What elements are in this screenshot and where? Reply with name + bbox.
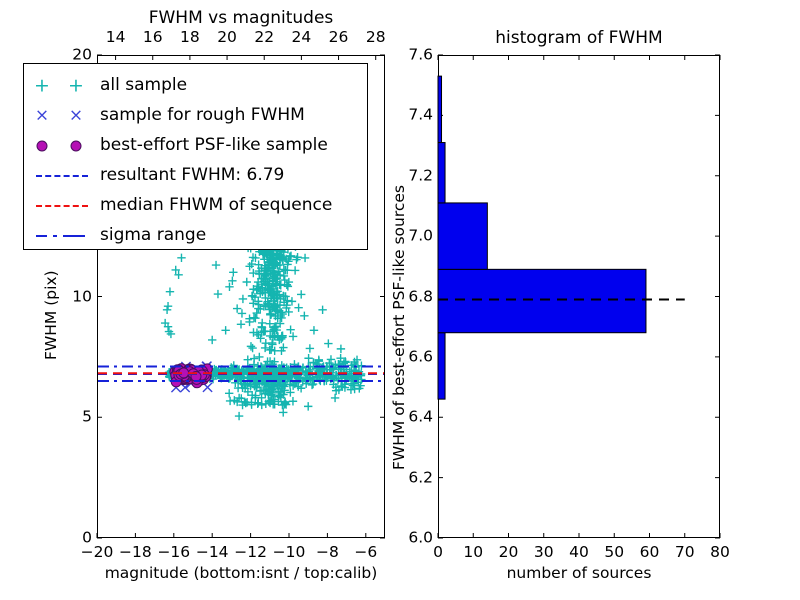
- legend-marker-x-icon: ××: [24, 103, 100, 129]
- legend-entry[interactable]: resultant FWHM: 6.79: [24, 160, 367, 191]
- legend-marker-circle-icon: [24, 133, 100, 159]
- tick-label: 50: [604, 545, 624, 561]
- histogram-bar: [438, 333, 445, 399]
- tick-label: 7.6: [408, 47, 433, 63]
- legend: ++all sample××sample for rough FWHMbest-…: [23, 63, 368, 250]
- legend-glyph: [71, 140, 82, 151]
- tick-label: 6.4: [408, 410, 433, 426]
- legend-glyph: ×: [35, 107, 49, 124]
- histogram-ylabel: FWHM of best-effort PSF-like sources: [392, 185, 408, 470]
- legend-marker-dashed-line-icon: [24, 163, 100, 189]
- legend-entry[interactable]: sigma range: [24, 220, 367, 251]
- legend-label: median FHWM of sequence: [100, 197, 332, 214]
- legend-marker-plus-icon: ++: [24, 73, 100, 99]
- legend-marker-dashed-line-icon: [24, 193, 100, 219]
- legend-label: resultant FWHM: 6.79: [100, 167, 284, 184]
- legend-glyph: [36, 205, 88, 207]
- legend-marker-dashdot-line-icon: [24, 223, 100, 249]
- legend-label: sigma range: [100, 227, 206, 244]
- tick-label: 60: [640, 545, 660, 561]
- legend-glyph: [36, 235, 88, 237]
- tick-label: 7.2: [408, 168, 433, 184]
- tick-label: 7.4: [408, 108, 433, 124]
- histogram-bar: [438, 269, 646, 332]
- tick-label: 40: [569, 545, 589, 561]
- legend-glyph: +: [68, 76, 84, 95]
- tick-label: 10: [463, 545, 483, 561]
- histogram-bar: [438, 76, 442, 142]
- tick-label: 6.0: [408, 530, 433, 546]
- tick-label: 70: [675, 545, 695, 561]
- legend-entry[interactable]: median FHWM of sequence: [24, 190, 367, 221]
- legend-label: all sample: [100, 77, 187, 94]
- histogram-xlabel: number of sources: [438, 566, 720, 582]
- tick-label: 6.6: [408, 349, 433, 365]
- histogram-bars: [438, 76, 646, 399]
- tick-label: 20: [499, 545, 519, 561]
- histogram-bar: [438, 143, 445, 203]
- histogram-bar: [438, 203, 487, 269]
- tick-label: 80: [710, 545, 730, 561]
- legend-glyph: [36, 175, 88, 177]
- legend-entry[interactable]: best-effort PSF-like sample: [24, 130, 367, 161]
- tick-label: 6.2: [408, 470, 433, 486]
- legend-glyph: [37, 140, 48, 151]
- legend-label: sample for rough FWHM: [100, 107, 305, 124]
- legend-glyph: +: [34, 76, 50, 95]
- figure-canvas: FWHM vs magnitudes 1416182022242628 −20−…: [0, 0, 800, 600]
- tick-label: 6.8: [408, 289, 433, 305]
- tick-label: 30: [534, 545, 554, 561]
- legend-label: best-effort PSF-like sample: [100, 137, 328, 154]
- legend-entry[interactable]: ××sample for rough FWHM: [24, 100, 367, 131]
- legend-glyph: ×: [69, 107, 83, 124]
- tick-label: 0: [433, 545, 443, 561]
- legend-entry[interactable]: ++all sample: [24, 70, 367, 101]
- tick-label: 7.0: [408, 228, 433, 244]
